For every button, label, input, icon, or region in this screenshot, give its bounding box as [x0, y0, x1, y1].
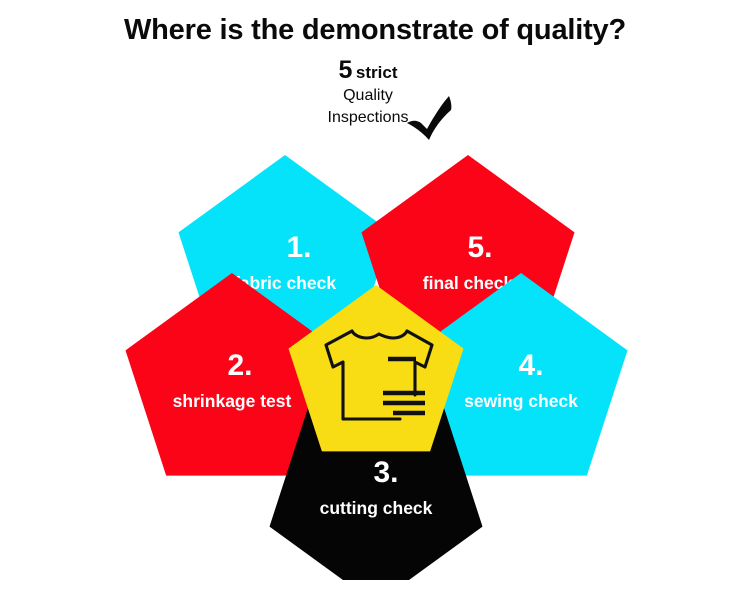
step-label-4: sewing check — [464, 391, 578, 411]
step-number-1: 1. — [286, 231, 311, 264]
subtitle-line-1: 5strict — [268, 58, 468, 83]
step-number-4: 4. — [518, 349, 543, 382]
page-title: Where is the demonstrate of quality? — [0, 14, 750, 47]
check-mark-icon — [404, 92, 456, 144]
step-number-2: 2. — [227, 349, 252, 382]
step-label-3: cutting check — [320, 498, 433, 518]
subtitle-emphasis: strict — [356, 63, 398, 82]
pentagon-flower-diagram: 1. fabric check 5. final check 2. shrink… — [0, 140, 750, 580]
inspection-count: 5 — [339, 56, 352, 84]
step-number-3: 3. — [373, 456, 398, 489]
step-number-5: 5. — [467, 231, 492, 264]
step-label-2: shrinkage test — [173, 391, 292, 411]
infographic-page: Where is the demonstrate of quality? 5st… — [0, 0, 750, 600]
